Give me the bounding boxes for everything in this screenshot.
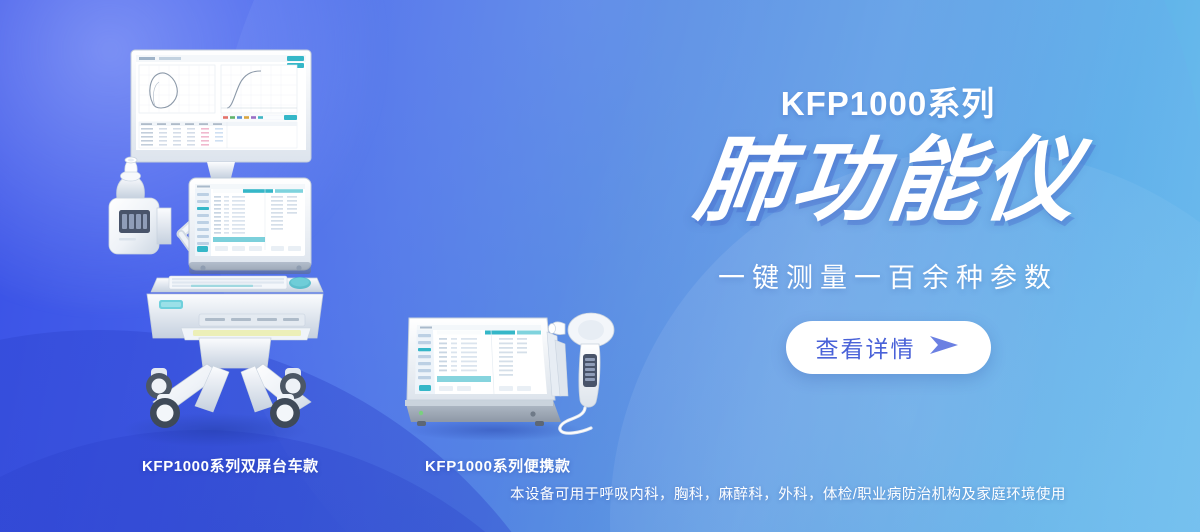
cart-keyboard-tray — [151, 276, 323, 292]
product-image-cart — [95, 38, 335, 448]
caption-cart: KFP1000系列双屏台车款 — [142, 455, 319, 476]
cart-top-monitor — [131, 50, 311, 178]
product-banner: KFP1000系列 肺功能仪 一键测量一百余种参数 查看详情 KFP1000系列… — [0, 0, 1200, 532]
tagline: 一键测量一百余种参数 — [628, 256, 1148, 295]
view-details-label: 查看详情 — [816, 330, 916, 364]
cart-touchscreen — [189, 178, 311, 274]
page-title: 肺功能仪 — [622, 134, 1154, 230]
product-series-label: KFP1000系列 — [628, 86, 1148, 122]
cart-drawer-cabinet — [147, 294, 323, 340]
banner-copy: KFP1000系列 肺功能仪 一键测量一百余种参数 查看详情 — [628, 86, 1148, 374]
arrow-right-icon — [927, 333, 961, 362]
portable-floor-shadow — [407, 419, 583, 440]
caption-portable: KFP1000系列便携款 — [425, 455, 571, 476]
spirometer-handle-cart — [109, 157, 171, 254]
usage-footnote: 本设备可用于呼吸内科，胸科，麻醉科，外科，体检/职业病防治机构及家庭环境使用 — [510, 483, 1066, 504]
view-details-button[interactable]: 查看详情 — [786, 321, 991, 374]
portable-tablet-screen — [407, 318, 568, 400]
product-image-portable — [395, 300, 630, 440]
